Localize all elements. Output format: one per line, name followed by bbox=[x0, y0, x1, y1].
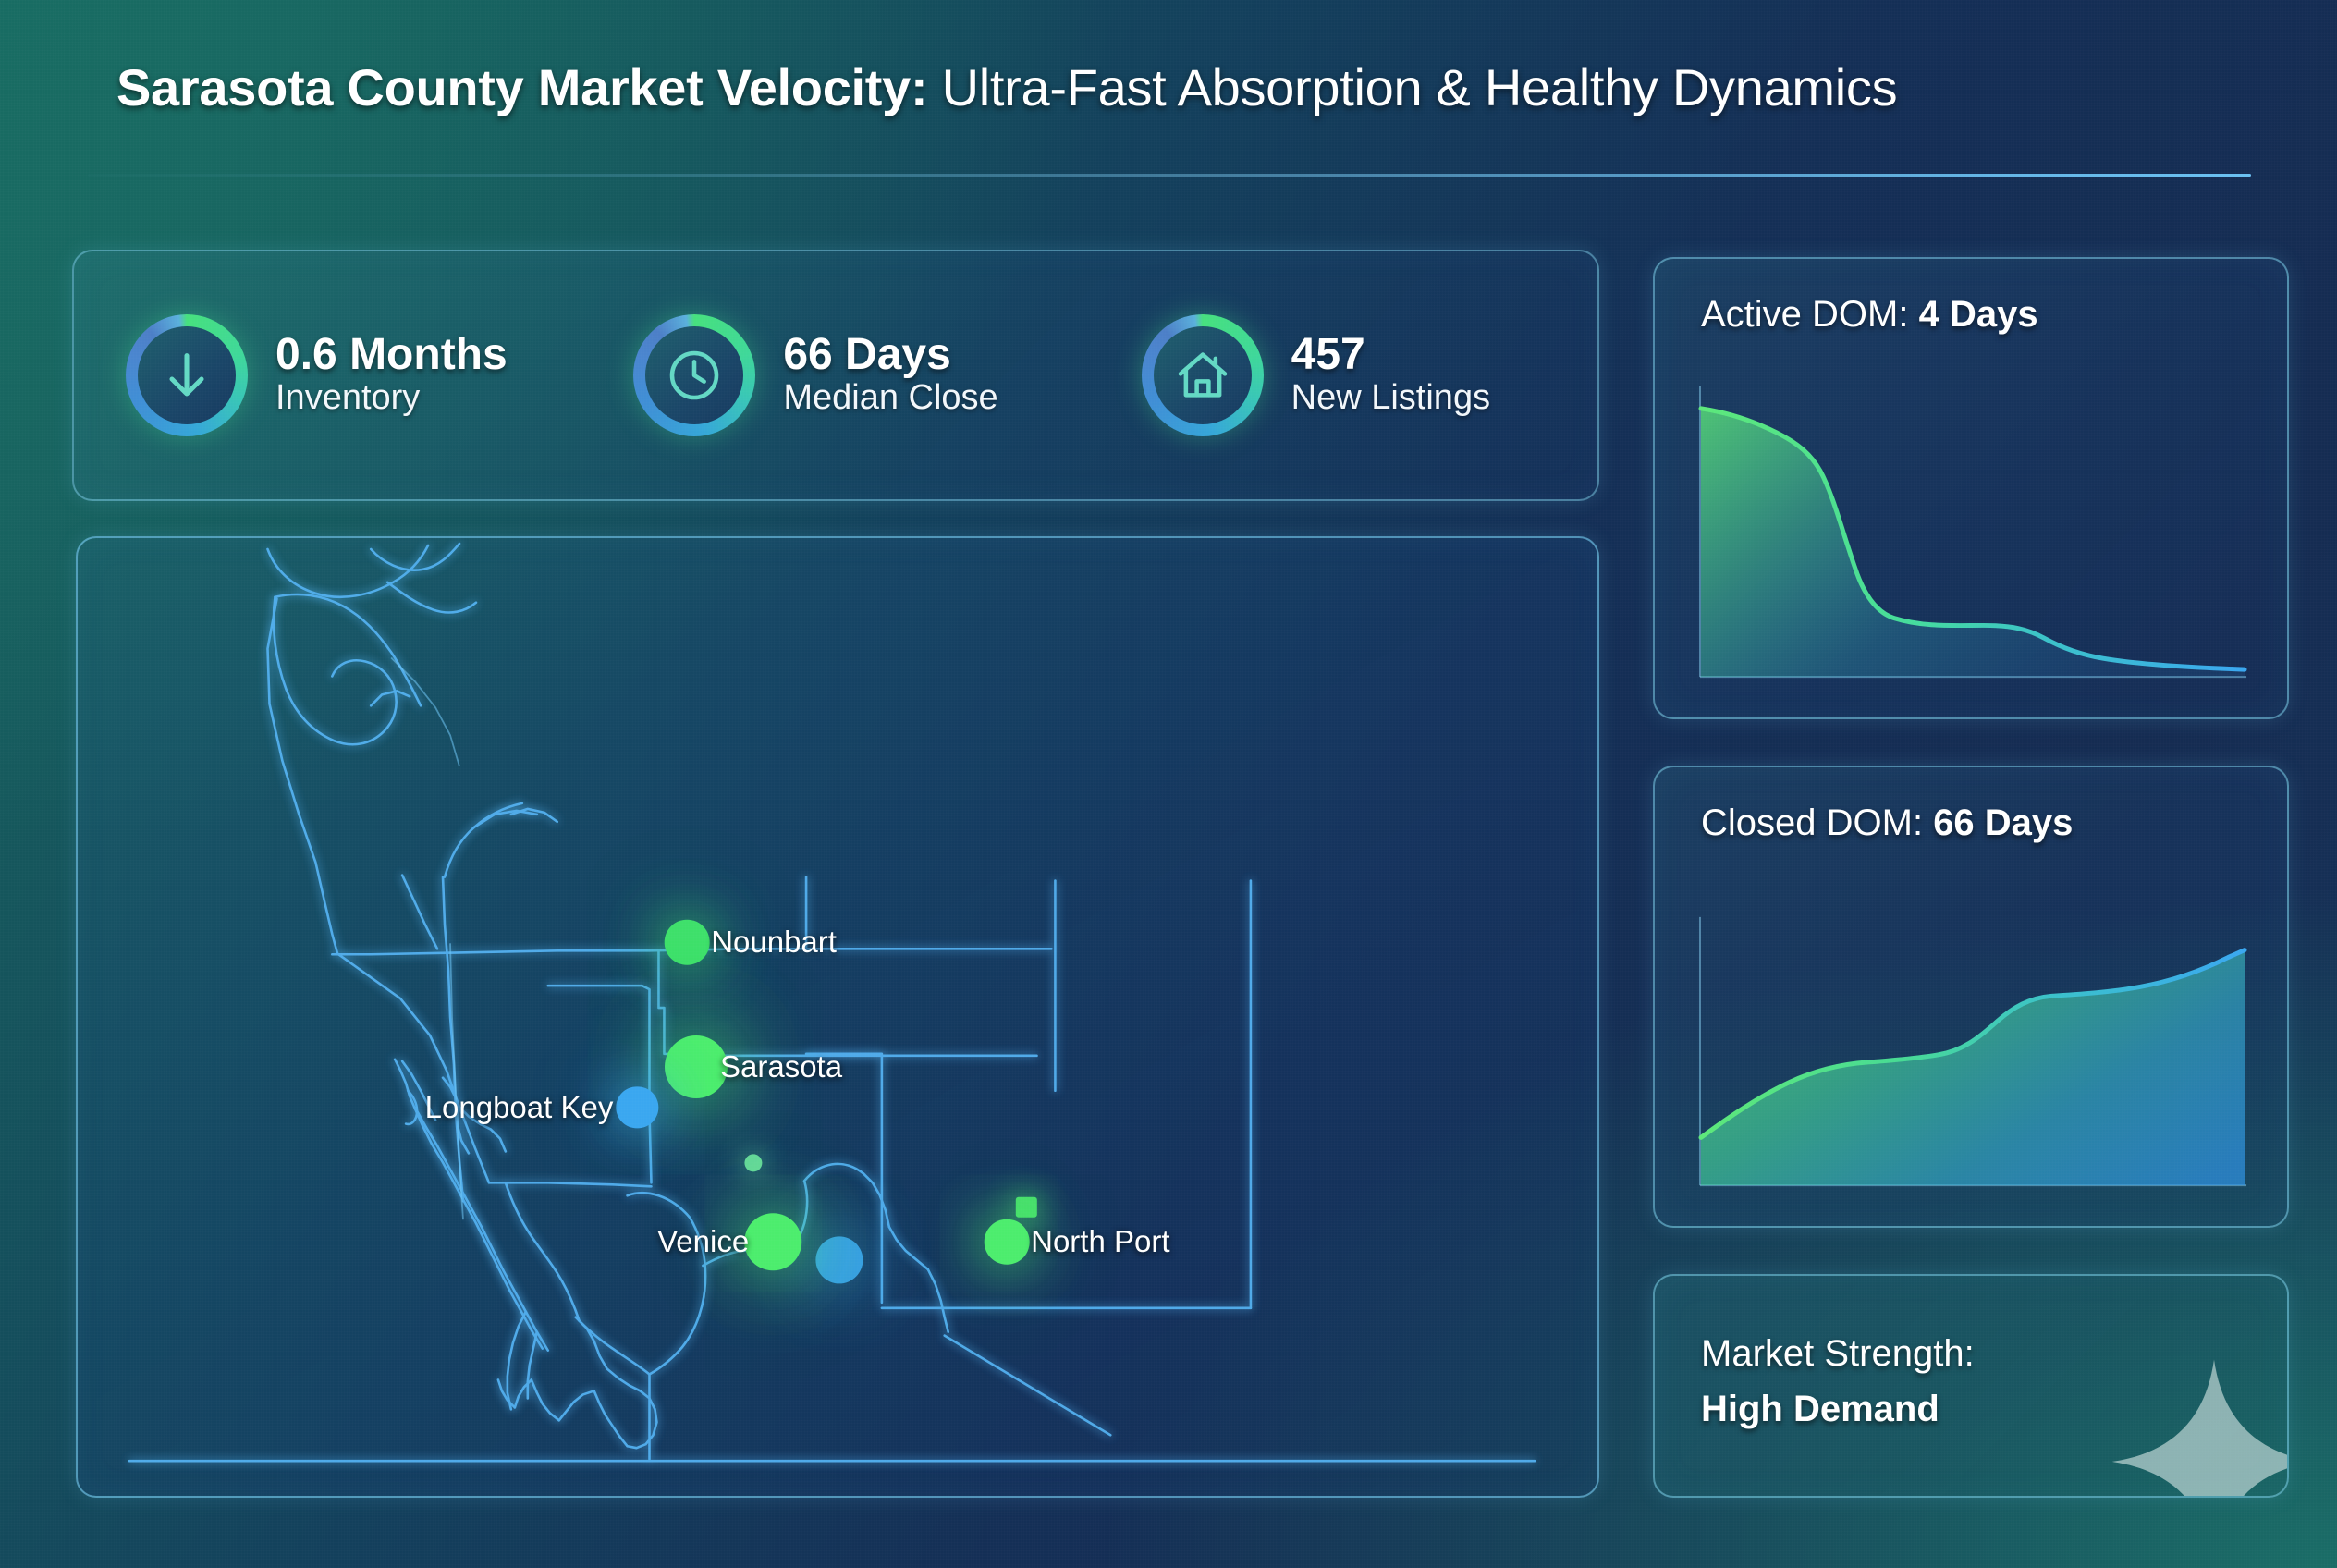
market-strength-card[interactable]: Market Strength: High Demand bbox=[1653, 1274, 2289, 1498]
map-pin-label: North Port bbox=[1031, 1224, 1169, 1259]
closed-dom-label: Closed DOM: bbox=[1701, 802, 1923, 843]
map-square-marker bbox=[1016, 1197, 1036, 1218]
map-pin-dot bbox=[744, 1213, 801, 1270]
kpi-new-listings[interactable]: 457 New Listings bbox=[1090, 314, 1597, 436]
kpi-label: Median Close bbox=[783, 378, 997, 419]
down-arrow-icon bbox=[138, 326, 236, 424]
map-pin-label: Venice bbox=[657, 1224, 749, 1259]
active-dom-card[interactable]: Active DOM: 4 Days bbox=[1653, 257, 2289, 719]
kpi-progress-ring bbox=[633, 314, 755, 436]
kpi-progress-ring bbox=[126, 314, 248, 436]
active-dom-chart bbox=[1697, 385, 2248, 692]
county-map-graphic bbox=[78, 538, 1597, 1496]
page-header: Sarasota County Market Velocity: Ultra-F… bbox=[0, 0, 2337, 185]
kpi-median-close[interactable]: 66 Days Median Close bbox=[581, 314, 1089, 436]
clock-icon bbox=[645, 326, 743, 424]
home-icon bbox=[1154, 326, 1252, 424]
kpi-text-block: 66 Days Median Close bbox=[783, 332, 997, 419]
map-pin-label: Longboat Key bbox=[425, 1090, 614, 1125]
kpi-inventory[interactable]: 0.6 Months Inventory bbox=[74, 314, 581, 436]
kpi-progress-ring bbox=[1142, 314, 1264, 436]
active-dom-value: 4 Days bbox=[1919, 294, 2038, 335]
title-divider bbox=[88, 174, 2251, 177]
kpi-value: 66 Days bbox=[783, 332, 997, 378]
map-pin-dot bbox=[665, 1035, 728, 1098]
map-pin-dot bbox=[985, 1219, 1030, 1265]
kpi-text-block: 457 New Listings bbox=[1291, 332, 1490, 419]
regional-map-panel[interactable]: NounbartSarasotaLongboat KeyVeniceNorth … bbox=[76, 536, 1599, 1498]
map-pin-dot bbox=[665, 920, 710, 965]
active-dom-label: Active DOM: bbox=[1701, 294, 1908, 335]
kpi-text-block: 0.6 Months Inventory bbox=[275, 332, 508, 419]
kpi-label: Inventory bbox=[275, 378, 508, 419]
closed-dom-chart bbox=[1697, 893, 2248, 1200]
map-pin-label: Sarasota bbox=[720, 1049, 842, 1084]
kpi-summary-panel: 0.6 Months Inventory 66 Days Median Clos… bbox=[72, 250, 1599, 501]
page-title-light: Ultra-Fast Absorption & Healthy Dynamics bbox=[927, 58, 1897, 116]
closed-dom-card[interactable]: Closed DOM: 66 Days bbox=[1653, 766, 2289, 1228]
kpi-value: 457 bbox=[1291, 332, 1490, 378]
page-title: Sarasota County Market Velocity: Ultra-F… bbox=[116, 57, 1897, 117]
closed-dom-value: 66 Days bbox=[1933, 802, 2073, 843]
kpi-value: 0.6 Months bbox=[275, 332, 508, 378]
map-pin-label: Nounbart bbox=[711, 925, 837, 960]
map-dot-marker bbox=[815, 1236, 863, 1283]
market-strength-label: Market Strength: bbox=[1701, 1333, 1975, 1375]
active-dom-title: Active DOM: 4 Days bbox=[1701, 294, 2038, 336]
kpi-label: New Listings bbox=[1291, 378, 1490, 419]
page-title-strong: Sarasota County Market Velocity: bbox=[116, 58, 927, 116]
closed-dom-title: Closed DOM: 66 Days bbox=[1701, 802, 2073, 844]
market-strength-value: High Demand bbox=[1701, 1389, 1939, 1430]
sparkle-icon bbox=[2108, 1355, 2289, 1498]
